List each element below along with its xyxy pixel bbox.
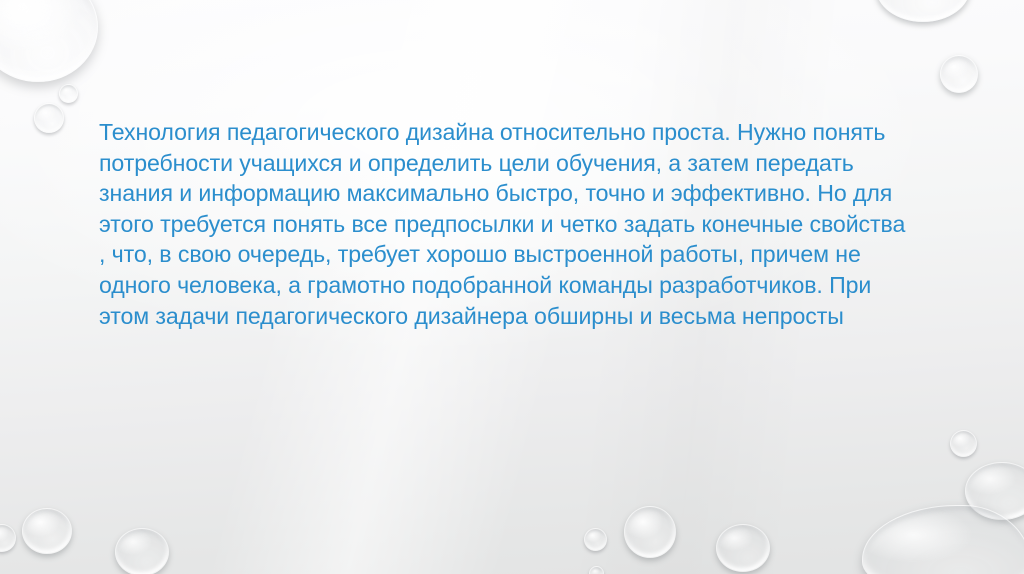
droplet-bottom-medium: [624, 506, 676, 558]
droplet-bottom-left-mid: [22, 508, 72, 554]
slide-body-text: Технология педагогического дизайна относ…: [99, 117, 917, 331]
droplet-bottom-tiny: [589, 566, 604, 574]
droplet-bottom-small: [584, 528, 607, 551]
droplet-upper-right: [940, 55, 978, 93]
droplet-right-upper-small: [950, 430, 977, 457]
droplet-bottom-right-flat: [716, 524, 770, 572]
droplet-large-top-left: [0, 0, 98, 82]
droplet-tiny-top-left: [59, 84, 78, 103]
slide-canvas: Технология педагогического дизайна относ…: [0, 0, 1024, 574]
droplet-small-top-left: [34, 103, 64, 133]
droplet-left-edge-bottom: [0, 524, 16, 552]
droplet-top-right-clipped: [876, 0, 970, 22]
puddle-bottom-right: [862, 505, 1024, 574]
droplet-right-oval: [965, 462, 1024, 520]
droplet-bottom-center: [115, 528, 169, 574]
